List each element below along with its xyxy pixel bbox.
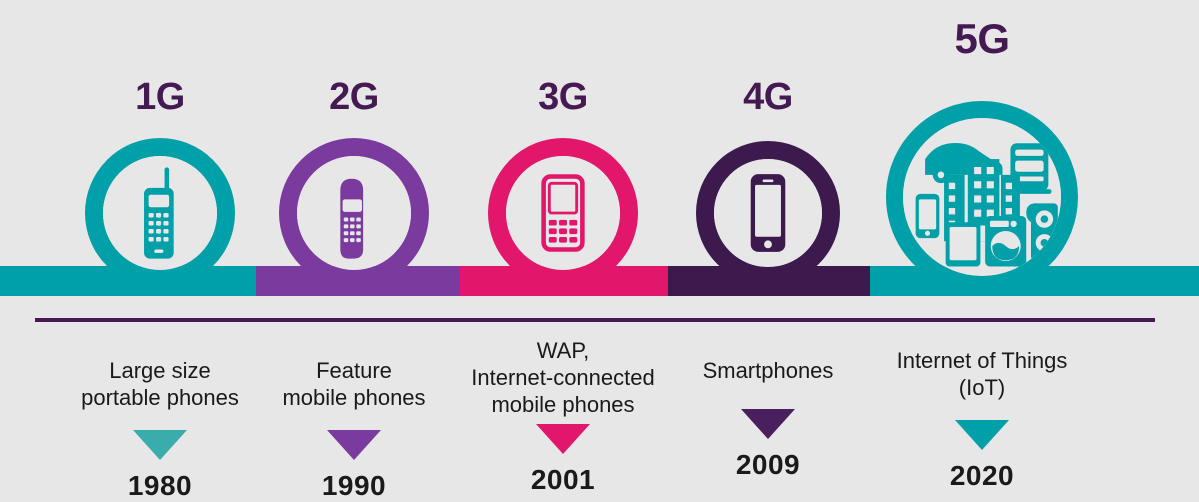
generation-description-2g: Feature mobile phones [239,358,469,412]
generation-ring-3g [488,138,638,288]
generation-ring-4g [696,141,840,285]
generation-label-5g: 5G [922,18,1042,60]
generation-icon-well-5g [903,118,1061,276]
timeline-column-2g: Feature mobile phones1990 [239,330,469,502]
infographic-canvas: 1G 2G [0,0,1199,500]
generation-description-3g: WAP, Internet-connected mobile phones [448,338,678,418]
generation-ring-2g [279,138,429,288]
brick-phone-icon [103,156,217,270]
generation-label-4g: 4G [708,78,828,116]
timeline-column-5g: Internet of Things (IoT)2020 [867,330,1097,492]
generation-icon-well-3g [506,156,620,270]
section-divider [35,318,1155,322]
generation-icon-well-4g [714,159,822,267]
generation-label-3g: 3G [503,78,623,116]
generation-icon-well-1g [103,156,217,270]
generation-year-2g: 1990 [239,470,469,502]
year-marker-triangle-4g [741,409,795,439]
timeline-column-4g: Smartphones2009 [653,330,883,481]
candybar-phone-icon [297,156,411,270]
year-marker-triangle-1g [133,430,187,460]
generation-year-4g: 2009 [653,449,883,481]
generation-label-1g: 1G [100,78,220,116]
internet-of-things-icon [903,118,1061,276]
keypad-phone-icon [506,156,620,270]
generation-ring-1g [85,138,235,288]
generation-ring-5g [886,101,1078,293]
year-marker-triangle-2g [327,430,381,460]
generation-year-5g: 2020 [867,460,1097,492]
generation-description-4g: Smartphones [653,358,883,385]
year-marker-triangle-5g [955,420,1009,450]
timeline-column-3g: WAP, Internet-connected mobile phones200… [448,330,678,496]
generation-icon-well-2g [297,156,411,270]
smartphone-icon [714,159,822,267]
year-marker-triangle-3g [536,424,590,454]
generation-year-3g: 2001 [448,464,678,496]
generation-description-5g: Internet of Things (IoT) [867,348,1097,402]
generation-label-2g: 2G [294,78,414,116]
